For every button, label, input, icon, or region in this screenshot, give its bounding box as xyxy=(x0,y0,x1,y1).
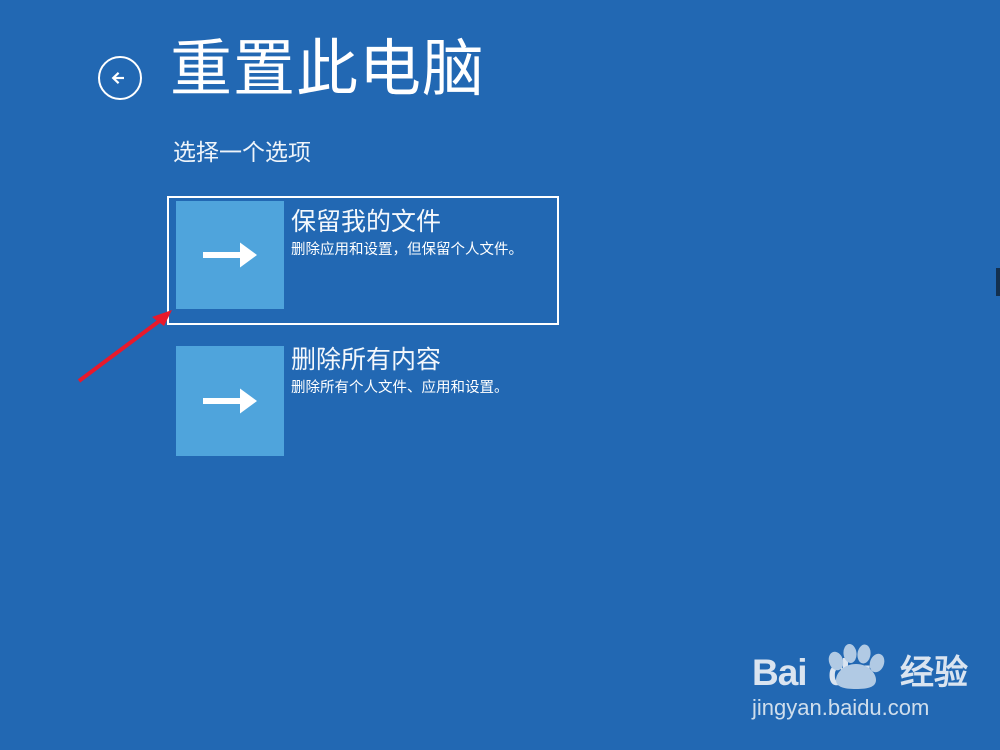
watermark-brand-bai: Bai xyxy=(752,654,807,692)
screen-header: 重置此电脑 xyxy=(0,0,1000,130)
option-keep-my-files[interactable]: 保留我的文件 删除应用和设置，但保留个人文件。 xyxy=(167,196,559,325)
watermark-product-label: 经验 xyxy=(900,654,968,692)
option-title: 保留我的文件 xyxy=(291,206,549,238)
back-button[interactable] xyxy=(98,56,142,100)
option-description: 删除应用和设置，但保留个人文件。 xyxy=(291,240,549,260)
watermark-logo-row: Bai du 经验 xyxy=(752,648,990,694)
watermark-url: jingyan.baidu.com xyxy=(752,694,929,722)
option-text-block: 删除所有内容 删除所有个人文件、应用和设置。 xyxy=(291,344,549,398)
option-description: 删除所有个人文件、应用和设置。 xyxy=(291,378,549,398)
page-title: 重置此电脑 xyxy=(170,30,485,110)
option-tile xyxy=(176,346,284,456)
reset-this-pc-screen: 重置此电脑 选择一个选项 保留我的文件 删除应用和设置，但保留个人文件。 删 xyxy=(0,0,1000,750)
option-text-block: 保留我的文件 删除应用和设置，但保留个人文件。 xyxy=(291,206,549,260)
option-tile xyxy=(176,201,284,309)
subtitle-choose-an-option: 选择一个选项 xyxy=(173,137,311,167)
screen-edge-artifact xyxy=(996,268,1000,296)
option-remove-everything[interactable]: 删除所有内容 删除所有个人文件、应用和设置。 xyxy=(167,336,559,465)
arrow-left-circle-icon xyxy=(100,58,140,98)
baidu-paw-icon xyxy=(824,644,886,690)
baidu-jingyan-watermark: Bai du 经验 jingyan.baidu.com xyxy=(752,648,990,722)
option-title: 删除所有内容 xyxy=(291,344,549,376)
